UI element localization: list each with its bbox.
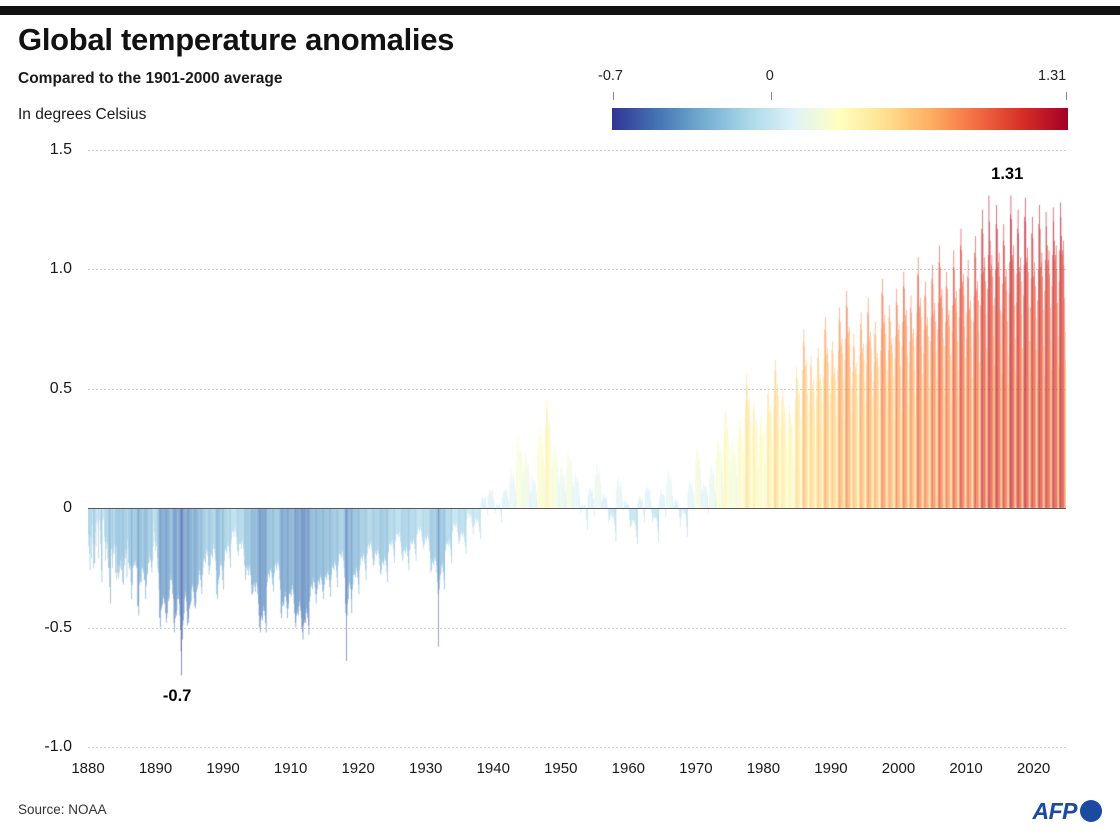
legend-min-label: -0.7 [598,68,623,84]
x-axis-tick-label: 1970 [666,760,726,777]
x-axis-tick-label: 2010 [936,760,996,777]
color-legend: -0.7 0 1.31 [612,68,1068,130]
y-axis-tick-label: -1.0 [10,738,72,756]
source-label: Source: NOAA [18,802,107,817]
legend-tick-max [1066,92,1067,100]
x-axis-tick-label: 1940 [463,760,523,777]
legend-gradient-bar [612,108,1068,130]
zero-baseline [88,508,1066,509]
x-axis-tick-label: 1920 [328,760,388,777]
x-axis-tick-label: 1910 [261,760,321,777]
page-title: Global temperature anomalies [18,22,454,58]
x-axis-tick-label: 2020 [1004,760,1064,777]
chart-plot-area: 1.31-0.7 [88,150,1066,747]
afp-logo-dot [1080,800,1102,822]
y-axis-tick-label: -0.5 [10,619,72,637]
legend-mid-label: 0 [766,68,774,84]
x-axis-tick-label: 1990 [801,760,861,777]
y-axis-tick-label: 1.0 [10,260,72,278]
chart-annotation: -0.7 [142,687,212,706]
top-rule [0,6,1120,15]
x-axis-tick-label: 1950 [531,760,591,777]
afp-logo-text: AFP [1033,798,1078,825]
legend-tick-mid [771,92,772,100]
x-axis-tick-label: 1880 [58,760,118,777]
legend-max-label: 1.31 [1038,68,1066,84]
y-axis-tick-label: 0 [10,499,72,517]
legend-tick-min [613,92,614,100]
afp-logo: AFP [1033,798,1103,824]
x-axis-tick-label: 1930 [396,760,456,777]
y-axis-tick-label: 0.5 [10,380,72,398]
x-axis-tick-label: 1980 [733,760,793,777]
chart-annotation: 1.31 [972,165,1042,184]
x-axis-tick-label: 1890 [126,760,186,777]
units-label: In degrees Celsius [18,106,146,124]
temperature-anomaly-bars [88,150,1066,747]
x-axis-tick-label: 1990 [193,760,253,777]
x-axis-tick-label: 2000 [868,760,928,777]
page-subtitle: Compared to the 1901-2000 average [18,70,282,88]
gridline [88,747,1066,748]
y-axis-tick-label: 1.5 [10,141,72,159]
x-axis-tick-label: 1960 [598,760,658,777]
